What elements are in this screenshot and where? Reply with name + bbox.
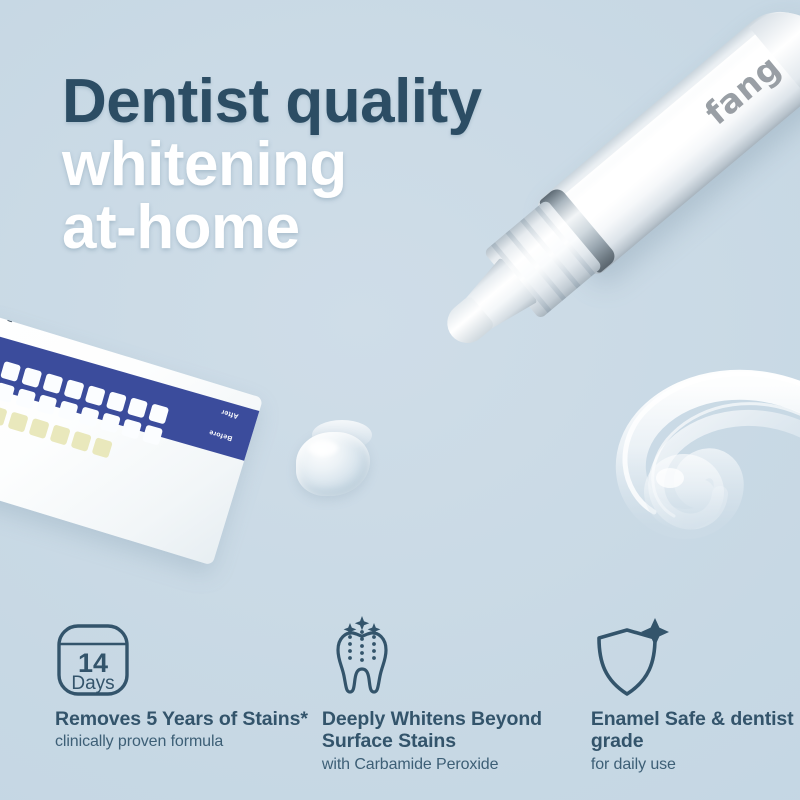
feature-title: Removes 5 Years of Stains* <box>55 708 322 731</box>
calendar-icon-svg: 14 Days <box>55 622 131 698</box>
shade-swatch <box>127 397 148 418</box>
feature-list: 14 Days Removes 5 Years of Stains* clini… <box>0 616 800 774</box>
headline-line-3: at-home <box>62 198 582 259</box>
tooth-icon-svg <box>322 616 402 698</box>
feature-subtitle: with Carbamide Peroxide <box>322 755 591 774</box>
shade-swatch-yellow <box>92 437 113 458</box>
feature-removes-stains: 14 Days Removes 5 Years of Stains* clini… <box>55 616 322 774</box>
shade-swatch-yellow <box>50 424 71 445</box>
shade-swatch <box>42 373 63 394</box>
product-marketing-image: After Before <box>0 0 800 800</box>
shade-swatch <box>100 412 121 433</box>
shade-swatch <box>21 367 42 388</box>
shade-label-after: After <box>221 408 240 420</box>
shade-swatch <box>106 391 127 412</box>
pen-gloss-highlight <box>548 19 787 225</box>
page-title: Dentist quality whitening at-home <box>62 72 582 258</box>
sparkling-tooth-icon <box>322 616 591 698</box>
shade-swatch <box>15 388 36 409</box>
shade-swatch <box>121 418 142 439</box>
headline-line-1: Dentist quality <box>62 72 582 133</box>
shield-icon-svg <box>591 618 671 698</box>
calendar-14-days-icon: 14 Days <box>55 616 322 698</box>
shield-sparkle-icon <box>591 616 800 698</box>
feature-deeply-whitens: Deeply Whitens Beyond Surface Stains wit… <box>322 616 591 774</box>
shade-swatch <box>142 425 163 446</box>
shade-swatch <box>64 379 85 400</box>
feature-subtitle: clinically proven formula <box>55 732 322 751</box>
shade-swatch <box>148 403 169 424</box>
shade-label-before: Before <box>208 428 233 441</box>
shade-swatch <box>79 406 100 427</box>
calendar-unit: Days <box>71 673 114 694</box>
shade-swatch-yellow <box>0 405 8 426</box>
shade-card-blue-band: After Before <box>0 325 263 466</box>
shade-swatch-yellow <box>28 418 49 439</box>
shade-swatch <box>0 361 21 382</box>
shade-card-title: Professional 3D Teeth Shade <box>0 313 15 323</box>
shade-swatch <box>85 385 106 406</box>
headline-line-2: whitening <box>62 135 582 196</box>
gel-droplet-highlight <box>308 440 338 456</box>
feature-enamel-safe: Enamel Safe & dentist grade for daily us… <box>591 616 800 774</box>
shade-swatch-yellow <box>71 431 92 452</box>
shade-swatch <box>36 394 57 415</box>
feature-title: Deeply Whitens Beyond Surface Stains <box>322 708 591 753</box>
feature-title: Enamel Safe & dentist grade <box>591 708 800 753</box>
feature-subtitle: for daily use <box>591 755 800 774</box>
shade-swatch-yellow <box>7 411 28 432</box>
shade-swatch <box>57 400 78 421</box>
teeth-shade-guide-card: After Before <box>0 313 263 565</box>
shade-swatch <box>0 382 15 403</box>
